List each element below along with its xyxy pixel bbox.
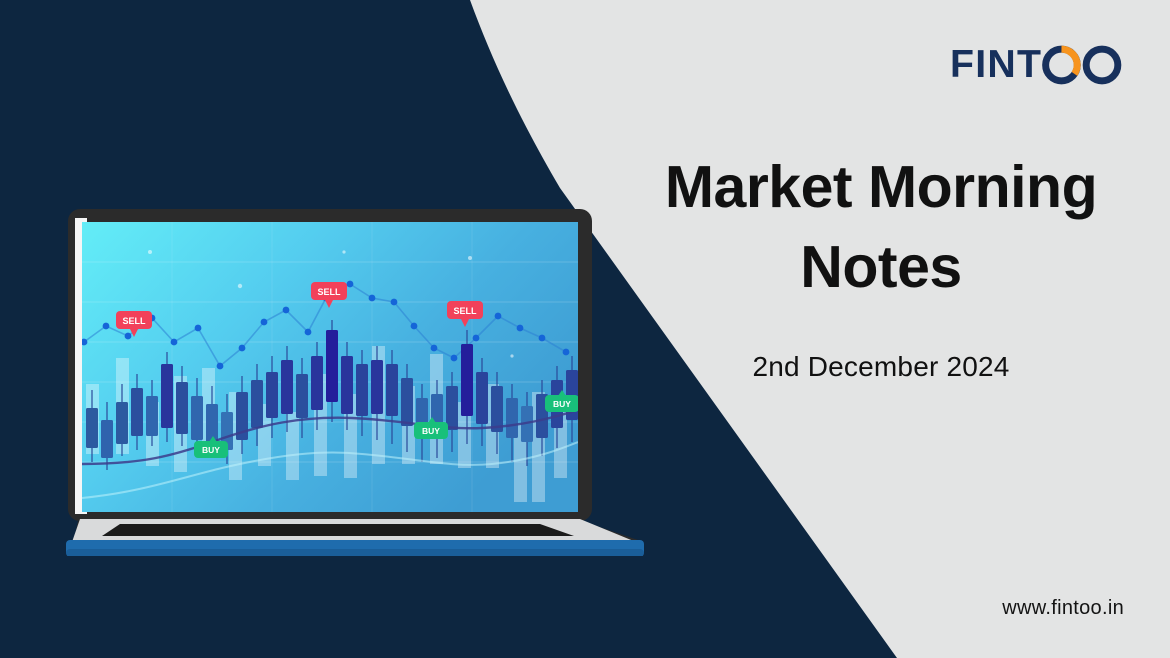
text-block: Market Morning Notes 2nd December 2024	[598, 148, 1164, 383]
laptop-illustration: SELL SELL SELL BUY	[62, 206, 644, 556]
page-title: Market Morning Notes	[598, 148, 1164, 307]
logo-wordmark-text: FINT	[950, 42, 1042, 86]
annotation-label: SELL	[317, 287, 341, 297]
annotation-label: BUY	[422, 426, 440, 436]
poster-canvas: FINT	[0, 0, 1170, 658]
issue-date: 2nd December 2024	[598, 351, 1164, 383]
fintoo-logo: FINT	[950, 36, 1140, 94]
laptop-base-shadow	[66, 549, 644, 556]
annotation-label: BUY	[553, 399, 571, 409]
annotation-label: SELL	[453, 306, 477, 316]
annotation-label: SELL	[122, 316, 146, 326]
logo-o-second	[1086, 49, 1118, 81]
annotation-label: BUY	[202, 445, 220, 455]
logo-o-first	[1046, 49, 1078, 81]
laptop-keyboard	[102, 524, 574, 536]
website-url[interactable]: www.fintoo.in	[1002, 597, 1124, 620]
